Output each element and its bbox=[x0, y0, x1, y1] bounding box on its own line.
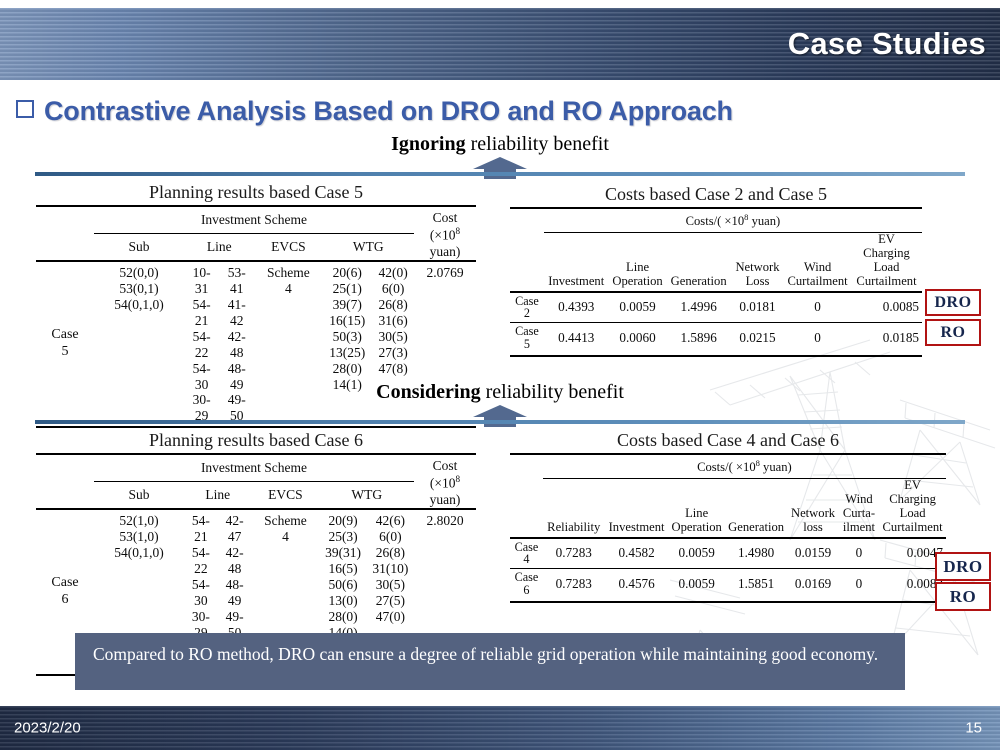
costs-case46-row1-case-2: 6 bbox=[523, 583, 529, 597]
costs-case46-col-3: Generation bbox=[728, 520, 784, 534]
planning-case5-wtg1-0: 20(6) bbox=[333, 265, 362, 280]
planning-case6-sub-2: 54(0,1,0) bbox=[114, 545, 164, 560]
costs-case46-table-wrap: Costs based Case 4 and Case 6 Costs/( ×1… bbox=[510, 430, 946, 603]
planning-case5-evcs-2: 4 bbox=[285, 281, 292, 296]
planning-case5-col-wtg: WTG bbox=[353, 239, 384, 254]
planning-case5-evcs-1: Scheme bbox=[267, 265, 310, 280]
costs-case46-col-2: Line Operation bbox=[671, 506, 721, 534]
planning-case5-sub-1: 53(0,1) bbox=[119, 281, 158, 296]
table-row: Case 5 0.4413 0.0060 1.5896 0.0215 0 0.0… bbox=[510, 323, 922, 353]
planning-case5-col-sub: Sub bbox=[128, 239, 149, 254]
planning-case6-evcs-2: 4 bbox=[282, 529, 289, 544]
costs-case46-units-post: yuan) bbox=[760, 460, 792, 474]
planning-case5-col-evcs: EVCS bbox=[271, 239, 306, 254]
planning-case5-line2-1: 41-42 bbox=[228, 297, 246, 328]
divider-rule-top bbox=[35, 172, 965, 176]
planning-case5-wtg2-6: 47(8) bbox=[378, 361, 407, 376]
costs-case25-units-pre: Costs/( ×10 bbox=[686, 214, 745, 228]
planning-case6-cost-header-3: yuan) bbox=[430, 492, 461, 507]
planning-case6-wtg2-3: 31(10) bbox=[372, 561, 408, 576]
costs-case25-table: Costs/( ×108 yuan) Investment Line Opera… bbox=[510, 207, 922, 357]
costs-case25-row1-v2: 1.5896 bbox=[681, 330, 717, 345]
section-rest-2: reliability benefit bbox=[481, 381, 624, 403]
slide-footer-banner: 2023/2/20 15 bbox=[0, 706, 1000, 750]
planning-case6-wtg1-6: 28(0) bbox=[328, 609, 357, 624]
footer-page-number: 15 bbox=[965, 720, 982, 737]
planning-case6-cost-header-2: (×10 bbox=[430, 476, 456, 491]
planning-case6-cost-value: 2.8020 bbox=[426, 513, 463, 528]
planning-case5-line2-2: 42-48 bbox=[228, 329, 246, 360]
costs-case25-col-0: Investment bbox=[548, 274, 604, 288]
planning-case5-wtg2-0: 42(0) bbox=[378, 265, 407, 280]
planning-case6-line1-1: 54-22 bbox=[192, 545, 210, 576]
planning-case6-wtg2-0: 42(6) bbox=[376, 513, 405, 528]
costs-case25-row1-case-2: 5 bbox=[524, 337, 530, 351]
costs-case46-row1-v4: 0.0169 bbox=[795, 576, 831, 591]
planning-case6-wtg2-6: 47(0) bbox=[376, 609, 405, 624]
planning-case5-line2-0: 53-41 bbox=[228, 265, 246, 296]
planning-case6-line1-2: 54-30 bbox=[192, 577, 210, 608]
costs-case46-row1-v0: 0.7283 bbox=[556, 576, 592, 591]
costs-case46-title: Costs based Case 4 and Case 6 bbox=[510, 430, 946, 451]
planning-case5-cost-header-1: Cost bbox=[433, 210, 458, 225]
costs-case25-title: Costs based Case 2 and Case 5 bbox=[510, 184, 922, 205]
planning-case5-cost-header-sup: 8 bbox=[456, 226, 461, 236]
section-rest: reliability benefit bbox=[466, 133, 609, 155]
planning-case5-case-label-2: 5 bbox=[62, 344, 69, 359]
conclusion-box: Compared to RO method, DRO can ensure a … bbox=[75, 633, 905, 690]
costs-case46-row0-v0: 0.7283 bbox=[556, 545, 592, 560]
planning-case5-wtg1-4: 50(3) bbox=[333, 329, 362, 344]
planning-case5-wtg1-1: 25(1) bbox=[333, 281, 362, 296]
planning-case5-line1-2: 54-22 bbox=[193, 329, 211, 360]
planning-case5-sub-0: 52(0,0) bbox=[119, 265, 158, 280]
planning-case6-line2-1: 42-48 bbox=[226, 545, 244, 576]
planning-case5-col-line: Line bbox=[207, 239, 232, 254]
costs-case25-row1-v1: 0.0060 bbox=[619, 330, 655, 345]
section-caption-ignoring: Ignoring reliability benefit bbox=[0, 133, 1000, 156]
planning-case5-wtg1-5: 13(25) bbox=[329, 345, 365, 360]
costs-case25-table-wrap: Costs based Case 2 and Case 5 Costs/( ×1… bbox=[510, 184, 922, 357]
planning-case6-evcs-1: Scheme bbox=[264, 513, 307, 528]
costs-case25-row0-v3: 0.0181 bbox=[739, 299, 775, 314]
planning-case5-line1-1: 54-21 bbox=[193, 297, 211, 328]
planning-case5-wtg2-3: 31(6) bbox=[378, 313, 407, 328]
planning-case6-line1-0: 54-21 bbox=[192, 513, 210, 544]
planning-case5-wtg1-2: 39(7) bbox=[333, 297, 362, 312]
costs-case25-col-5: EV Charging Load Curtailment bbox=[856, 232, 916, 288]
planning-case5-group-header: Investment Scheme bbox=[201, 212, 307, 227]
planning-case6-case-label-2: 6 bbox=[62, 592, 69, 607]
planning-case5-wtg1-6: 28(0) bbox=[333, 361, 362, 376]
costs-case46-row0-case-2: 4 bbox=[523, 552, 529, 566]
costs-case25-row0-case-2: 2 bbox=[524, 306, 530, 320]
costs-case46-row0-v5: 0 bbox=[856, 545, 863, 560]
planning-case6-wtg2-2: 26(8) bbox=[376, 545, 405, 560]
planning-case6-wtg1-3: 16(5) bbox=[328, 561, 357, 576]
costs-case46-col-1: Investment bbox=[609, 520, 665, 534]
costs-case25-col-4: Wind Curtailment bbox=[787, 260, 847, 288]
planning-case6-title: Planning results based Case 6 bbox=[36, 430, 476, 451]
planning-case6-col-evcs: EVCS bbox=[268, 487, 303, 502]
planning-case6-cost-header-1: Cost bbox=[433, 458, 458, 473]
planning-case5-cost-header-3: yuan) bbox=[430, 244, 461, 259]
costs-case46-col-4: Network loss bbox=[791, 506, 835, 534]
square-bullet-icon bbox=[16, 100, 34, 118]
section-emphasis: Ignoring bbox=[391, 133, 465, 155]
tag-ro-case6-label: RO bbox=[950, 587, 977, 606]
tag-ro-case6: RO bbox=[935, 582, 991, 611]
costs-case25-col-2: Generation bbox=[671, 274, 727, 288]
tag-ro-case5: RO bbox=[925, 319, 981, 346]
planning-case6-wtg1-4: 50(6) bbox=[328, 577, 357, 592]
costs-case46-units-pre: Costs/( ×10 bbox=[697, 460, 756, 474]
planning-case6-col-wtg: WTG bbox=[351, 487, 382, 502]
costs-case25-row0-v5: 0.0085 bbox=[883, 299, 919, 314]
planning-case6-wtg1-1: 25(3) bbox=[328, 529, 357, 544]
planning-case6-line2-2: 48-49 bbox=[226, 577, 244, 608]
planning-case6-wtg2-1: 6(0) bbox=[379, 529, 402, 544]
planning-case5-cost-value: 2.0769 bbox=[426, 265, 463, 280]
planning-case5-wtg2-1: 6(0) bbox=[382, 281, 405, 296]
tag-dro-case2-label: DRO bbox=[934, 294, 971, 311]
planning-case6-wtg1-0: 20(9) bbox=[328, 513, 357, 528]
tag-ro-case5-label: RO bbox=[941, 324, 966, 341]
tag-dro-case4: DRO bbox=[935, 552, 991, 581]
costs-case46-row1-v3: 1.5851 bbox=[738, 576, 774, 591]
planning-case5-sub-2: 54(0,1,0) bbox=[114, 297, 164, 312]
costs-case25-row1-v4: 0 bbox=[814, 330, 821, 345]
costs-case25-units-post: yuan) bbox=[748, 214, 780, 228]
costs-case25-row0-v2: 1.4996 bbox=[681, 299, 717, 314]
planning-case5-wtg2-5: 27(3) bbox=[378, 345, 407, 360]
costs-case25-row0-v1: 0.0059 bbox=[619, 299, 655, 314]
costs-case25-row1-v0: 0.4413 bbox=[558, 330, 594, 345]
costs-case25-row0-v0: 0.4393 bbox=[558, 299, 594, 314]
tag-dro-case4-label: DRO bbox=[943, 557, 982, 576]
table-row: Case 2 0.4393 0.0059 1.4996 0.0181 0 0.0… bbox=[510, 292, 922, 323]
section-caption-considering: Considering reliability benefit bbox=[0, 381, 1000, 404]
planning-case5-wtg1-3: 16(15) bbox=[329, 313, 365, 328]
planning-case6-line2-0: 42-47 bbox=[226, 513, 244, 544]
costs-case46-row0-v4: 0.0159 bbox=[795, 545, 831, 560]
costs-case46-col-5: Wind Curta- ilment bbox=[843, 492, 875, 534]
costs-case46-row0-v3: 1.4980 bbox=[738, 545, 774, 560]
costs-case25-row1-v3: 0.0215 bbox=[739, 330, 775, 345]
costs-case46-col-6: EV Charging Load Curtailment bbox=[883, 478, 943, 534]
section-emphasis-2: Considering bbox=[376, 381, 480, 403]
costs-case25-row0-v4: 0 bbox=[814, 299, 821, 314]
slide-header-banner: Case Studies bbox=[0, 8, 1000, 80]
planning-case5-wtg2-4: 30(5) bbox=[378, 329, 407, 344]
page-title-text: Contrastive Analysis Based on DRO and RO… bbox=[44, 96, 733, 126]
tag-dro-case2: DRO bbox=[925, 289, 981, 316]
planning-case5-cost-header-2: (×10 bbox=[430, 228, 456, 243]
planning-case5-title: Planning results based Case 5 bbox=[36, 182, 476, 203]
costs-case46-row1-v1: 0.4576 bbox=[618, 576, 654, 591]
planning-case6-wtg1-5: 13(0) bbox=[328, 593, 357, 608]
planning-case6-sub-1: 53(1,0) bbox=[119, 529, 158, 544]
divider-rule-bottom bbox=[35, 420, 965, 424]
conclusion-text: Compared to RO method, DRO can ensure a … bbox=[93, 644, 878, 664]
costs-case25-col-3: Network Loss bbox=[735, 260, 779, 288]
planning-case5-wtg2-2: 26(8) bbox=[378, 297, 407, 312]
planning-case6-col-line: Line bbox=[205, 487, 230, 502]
costs-case25-col-1: Line Operation bbox=[612, 260, 662, 288]
planning-case6-wtg2-5: 27(5) bbox=[376, 593, 405, 608]
planning-case6-cost-header-sup: 8 bbox=[456, 474, 461, 484]
planning-case5-case-label-1: Case bbox=[51, 327, 78, 342]
planning-case5-line1-0: 10-31 bbox=[193, 265, 211, 296]
costs-case25-row1-v5: 0.0185 bbox=[883, 330, 919, 345]
planning-case6-case-label-1: Case bbox=[51, 575, 78, 590]
planning-case6-wtg2-4: 30(5) bbox=[376, 577, 405, 592]
page-title: Contrastive Analysis Based on DRO and RO… bbox=[16, 96, 733, 127]
costs-case46-row0-v1: 0.4582 bbox=[618, 545, 654, 560]
costs-case46-row0-v2: 0.0059 bbox=[679, 545, 715, 560]
table-row: Case 6 0.7283 0.4576 0.0059 1.5851 0.016… bbox=[510, 569, 946, 599]
costs-case46-row1-v2: 0.0059 bbox=[679, 576, 715, 591]
planning-case6-sub-0: 52(1,0) bbox=[119, 513, 158, 528]
planning-case6-wtg1-2: 39(31) bbox=[325, 545, 361, 560]
planning-case6-col-sub: Sub bbox=[128, 487, 149, 502]
footer-date: 2023/2/20 bbox=[14, 720, 81, 737]
header-title: Case Studies bbox=[788, 26, 986, 62]
costs-case46-col-0: Reliability bbox=[547, 520, 600, 534]
costs-case46-table: Costs/( ×108 yuan) Reliability Investmen… bbox=[510, 453, 946, 603]
costs-case46-row1-v5: 0 bbox=[856, 576, 863, 591]
planning-case6-group-header: Investment Scheme bbox=[201, 460, 307, 475]
table-row: Case 4 0.7283 0.4582 0.0059 1.4980 0.015… bbox=[510, 538, 946, 569]
